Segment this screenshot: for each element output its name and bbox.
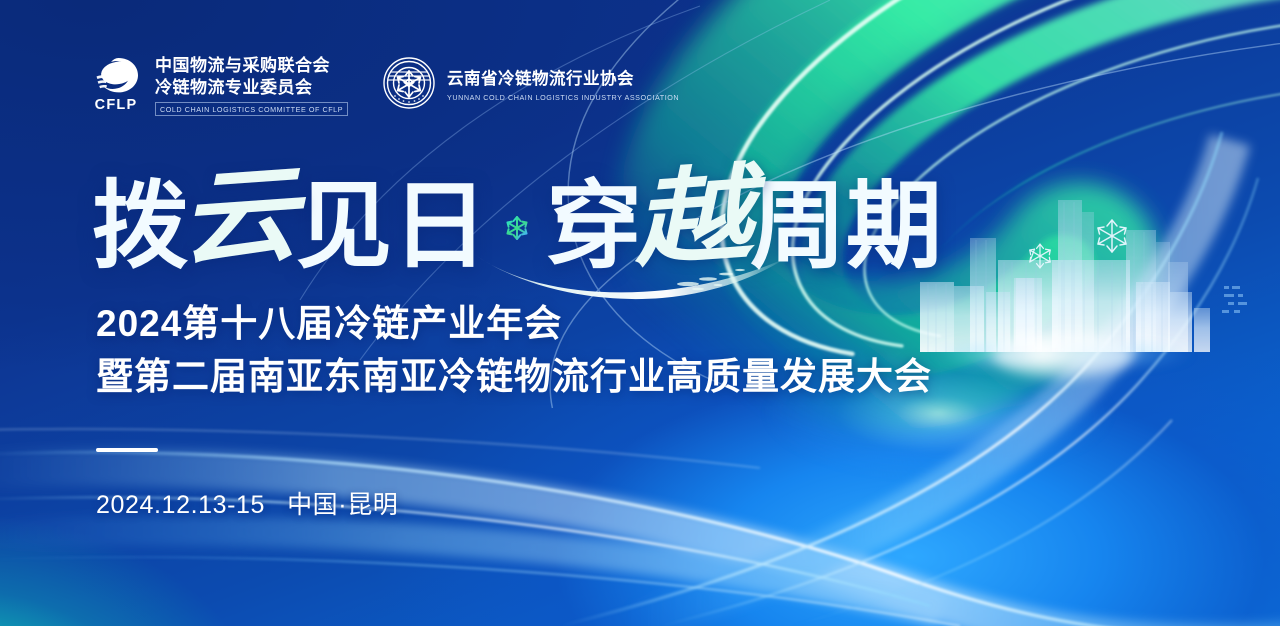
event-location: 中国·昆明	[287, 485, 398, 521]
headline-phrase-2: 穿 越 周 期	[546, 172, 942, 274]
headline-char-brush: 越	[629, 162, 754, 272]
logo-cflp-line1: 中国物流与采购联合会	[155, 55, 348, 77]
logo-bar: CFLP 中国物流与采购联合会 冷链物流专业委员会 Cold Chain Log…	[88, 52, 679, 119]
logo-yunnan: 云南省冷链物流行业协会 YUNNAN COLD CHAIN LOGISTICS …	[382, 56, 679, 115]
snowflake-icon	[502, 213, 532, 248]
divider-rule	[96, 448, 158, 452]
cflp-globe-icon: CFLP	[88, 52, 144, 119]
subtitle-line-2: 暨第二届南亚东南亚冷链物流行业高质量发展大会	[96, 351, 932, 404]
yunnan-snowflake-seal-icon	[382, 56, 436, 115]
event-date: 2024.12.13-15	[96, 491, 265, 520]
event-details: 2024.12.13-15 中国·昆明	[96, 485, 398, 521]
logo-yunnan-line1: 云南省冷链物流行业协会	[447, 69, 679, 91]
logo-yunnan-english: YUNNAN COLD CHAIN LOGISTICS INDUSTRY ASS…	[447, 93, 679, 102]
headline: 拨 云 见 日	[92, 172, 942, 274]
headline-phrase-1: 拨 云 见 日	[92, 172, 488, 274]
logo-cflp-line2: 冷链物流专业委员会	[155, 77, 348, 99]
headline-char-brush: 云	[175, 162, 300, 272]
headline-char: 周	[750, 180, 846, 274]
headline-char: 日	[392, 180, 488, 274]
logo-cflp-english: Cold Chain Logistics Committee of CFLP	[155, 102, 348, 116]
headline-char: 见	[296, 180, 392, 274]
subtitle: 2024第十八届冷链产业年会 暨第二届南亚东南亚冷链物流行业高质量发展大会	[96, 298, 932, 403]
subtitle-line-1: 2024第十八届冷链产业年会	[96, 298, 932, 351]
svg-text:CFLP: CFLP	[95, 97, 138, 113]
logo-yunnan-text: 云南省冷链物流行业协会 YUNNAN COLD CHAIN LOGISTICS …	[447, 69, 679, 103]
headline-char: 穿	[546, 180, 642, 274]
conference-banner: CFLP 中国物流与采购联合会 冷链物流专业委员会 Cold Chain Log…	[0, 0, 1280, 626]
headline-char: 拨	[92, 180, 188, 274]
headline-char: 期	[846, 180, 942, 274]
logo-cflp: CFLP 中国物流与采购联合会 冷链物流专业委员会 Cold Chain Log…	[88, 52, 348, 119]
logo-cflp-text: 中国物流与采购联合会 冷链物流专业委员会 Cold Chain Logistic…	[155, 55, 348, 117]
